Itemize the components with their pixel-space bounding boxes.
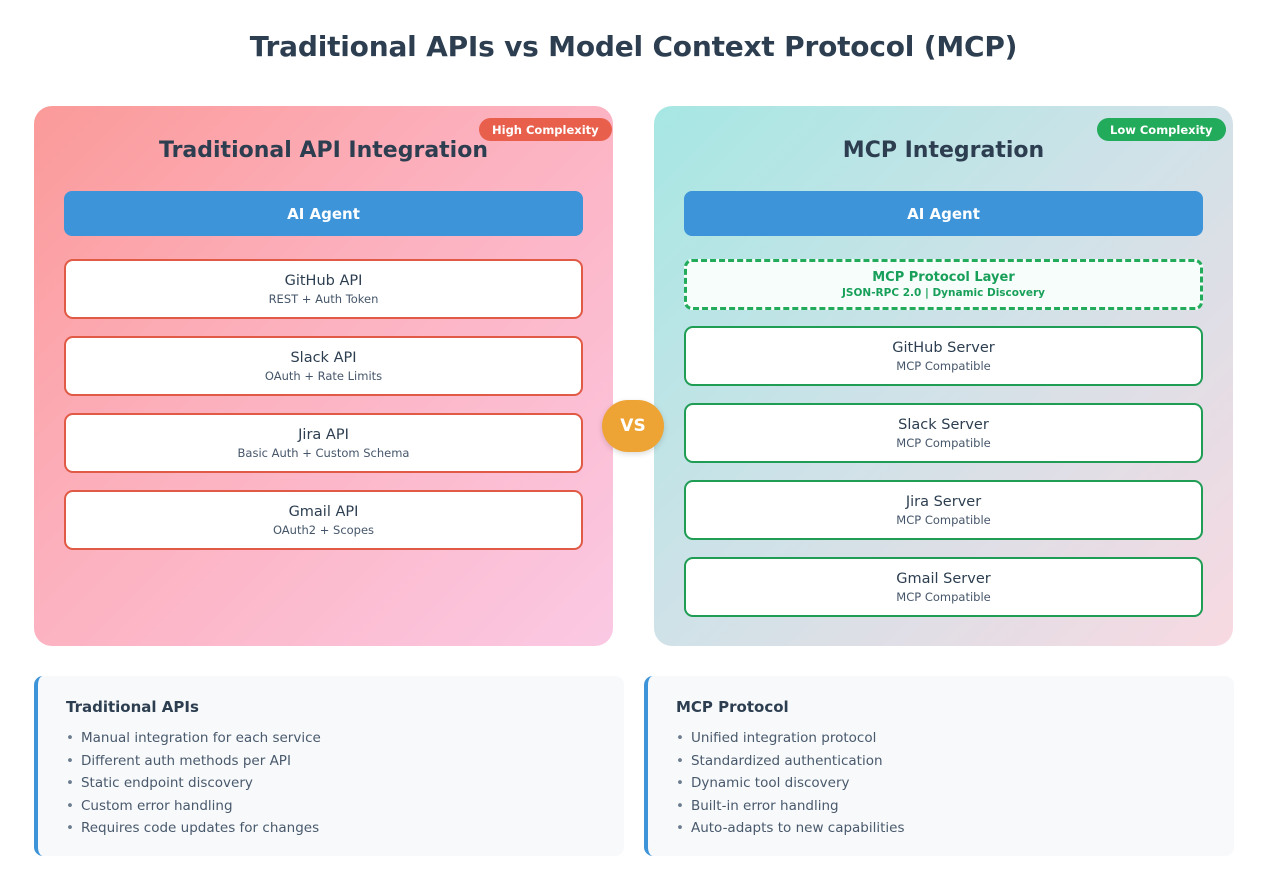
mcp-server-card-subtitle: MCP Compatible <box>896 437 990 451</box>
list-item: Dynamic tool discovery <box>676 772 1234 795</box>
mcp-server-card-title: GitHub Server <box>892 339 994 357</box>
api-card-gmail[interactable]: Gmail API OAuth2 + Scopes <box>64 490 583 550</box>
status-badge-low-complexity: Low Complexity <box>1097 118 1226 141</box>
mcp-server-card-subtitle: MCP Compatible <box>896 514 990 528</box>
api-card-title: GitHub API <box>285 272 363 290</box>
api-card-subtitle: OAuth + Rate Limits <box>265 370 382 384</box>
api-card-title: Jira API <box>298 426 349 444</box>
mcp-protocol-layer-title: MCP Protocol Layer <box>872 270 1015 285</box>
summary-list-traditional: Manual integration for each service Diff… <box>66 727 624 840</box>
api-card-title: Slack API <box>290 349 356 367</box>
list-item: Requires code updates for changes <box>66 817 624 840</box>
mcp-server-card-subtitle: MCP Compatible <box>896 591 990 605</box>
page-title: Traditional APIs vs Model Context Protoc… <box>0 30 1267 63</box>
mcp-server-card-title: Jira Server <box>906 493 981 511</box>
api-card-slack[interactable]: Slack API OAuth + Rate Limits <box>64 336 583 396</box>
comparison-infographic: Traditional APIs vs Model Context Protoc… <box>0 0 1267 893</box>
api-card-subtitle: Basic Auth + Custom Schema <box>238 447 410 461</box>
summary-list-mcp: Unified integration protocol Standardize… <box>676 727 1234 840</box>
api-card-github[interactable]: GitHub API REST + Auth Token <box>64 259 583 319</box>
list-item: Manual integration for each service <box>66 727 624 750</box>
api-card-jira[interactable]: Jira API Basic Auth + Custom Schema <box>64 413 583 473</box>
mcp-protocol-layer-subtitle: JSON-RPC 2.0 | Dynamic Discovery <box>842 287 1045 299</box>
list-item: Standardized authentication <box>676 750 1234 773</box>
traditional-api-panel-heading: Traditional API Integration <box>34 138 613 163</box>
vs-divider-badge: VS <box>602 400 664 452</box>
api-card-title: Gmail API <box>289 503 359 521</box>
summary-title: MCP Protocol <box>676 698 1234 716</box>
mcp-server-card-github[interactable]: GitHub Server MCP Compatible <box>684 326 1203 386</box>
mcp-protocol-layer-node[interactable]: MCP Protocol Layer JSON-RPC 2.0 | Dynami… <box>684 259 1203 310</box>
list-item: Built-in error handling <box>676 795 1234 818</box>
status-badge-high-complexity: High Complexity <box>479 118 612 141</box>
list-item: Unified integration protocol <box>676 727 1234 750</box>
mcp-server-card-title: Slack Server <box>898 416 989 434</box>
list-item: Different auth methods per API <box>66 750 624 773</box>
summary-box-mcp-protocol: MCP Protocol Unified integration protoco… <box>644 676 1234 856</box>
list-item: Custom error handling <box>66 795 624 818</box>
list-item: Static endpoint discovery <box>66 772 624 795</box>
mcp-server-card-gmail[interactable]: Gmail Server MCP Compatible <box>684 557 1203 617</box>
list-item: Auto-adapts to new capabilities <box>676 817 1234 840</box>
mcp-integration-panel-heading: MCP Integration <box>654 138 1233 163</box>
ai-agent-node-left[interactable]: AI Agent <box>64 191 583 236</box>
ai-agent-node-right[interactable]: AI Agent <box>684 191 1203 236</box>
mcp-server-card-subtitle: MCP Compatible <box>896 360 990 374</box>
api-card-subtitle: REST + Auth Token <box>269 293 379 307</box>
summary-box-traditional-apis: Traditional APIs Manual integration for … <box>34 676 624 856</box>
mcp-server-card-jira[interactable]: Jira Server MCP Compatible <box>684 480 1203 540</box>
api-card-subtitle: OAuth2 + Scopes <box>273 524 374 538</box>
mcp-server-card-slack[interactable]: Slack Server MCP Compatible <box>684 403 1203 463</box>
summary-title: Traditional APIs <box>66 698 624 716</box>
mcp-server-card-title: Gmail Server <box>896 570 990 588</box>
